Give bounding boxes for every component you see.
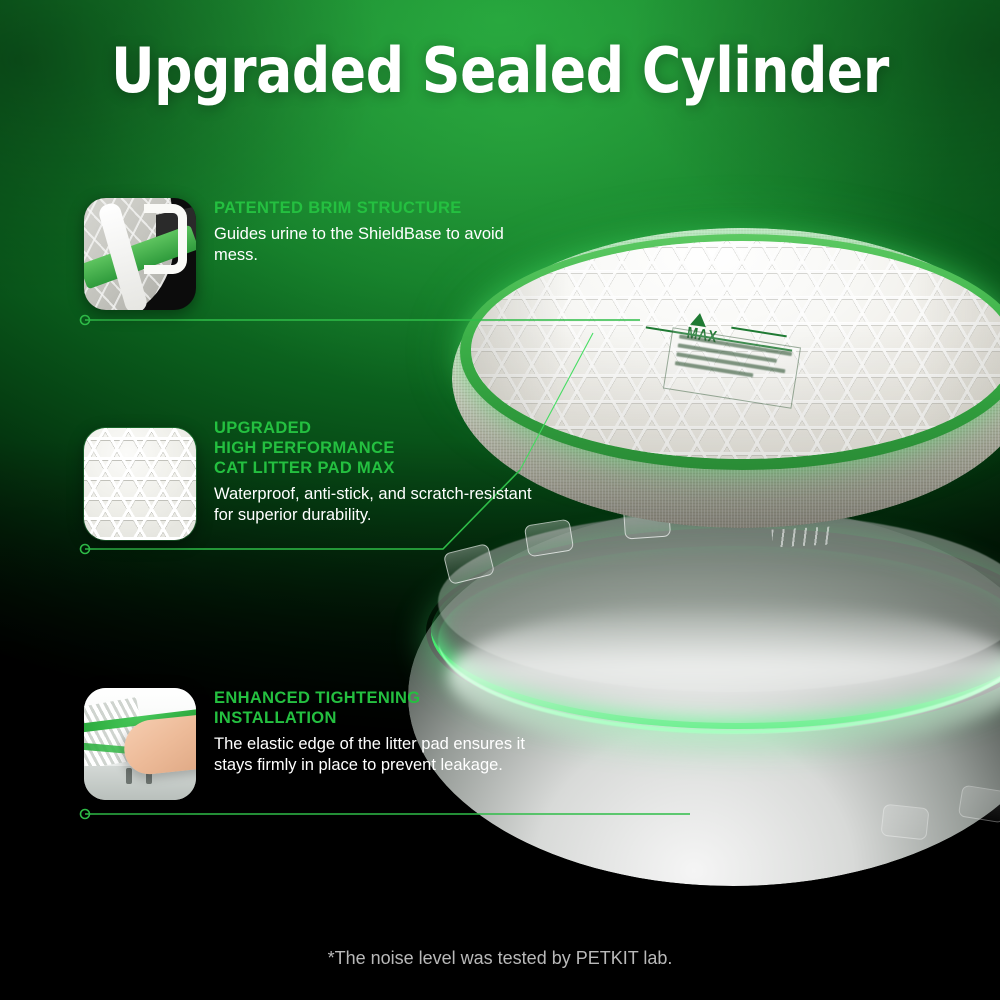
page-title: Upgraded Sealed Cylinder: [20, 36, 980, 106]
feature-heading: PATENTED BRIM STRUCTURE: [214, 198, 544, 218]
brim-cross-section-thumbnail: [84, 198, 196, 310]
feature-heading-line1: ENHANCED TIGHTENING: [214, 688, 544, 708]
feature-body: Guides urine to the ShieldBase to avoid …: [214, 224, 544, 266]
hand-tucking-edge-thumbnail: [84, 688, 196, 800]
feature-body: Waterproof, anti-stick, and scratch-resi…: [214, 484, 544, 526]
footer-disclaimer: *The noise level was tested by PETKIT la…: [0, 946, 1000, 970]
feature-heading-line2: INSTALLATION: [214, 708, 544, 728]
litter-pad-texture-thumbnail: [84, 428, 196, 540]
feature-heading-line3: CAT LITTER PAD MAX: [214, 458, 544, 478]
feature-heading-line2: HIGH PERFORMANCE: [214, 438, 544, 458]
feature-body: The elastic edge of the litter pad ensur…: [214, 734, 544, 776]
feature-heading-line1: UPGRADED: [214, 418, 544, 438]
product-feature-infographic: MAX Upgraded Sealed Cylinder: [0, 0, 1000, 1000]
